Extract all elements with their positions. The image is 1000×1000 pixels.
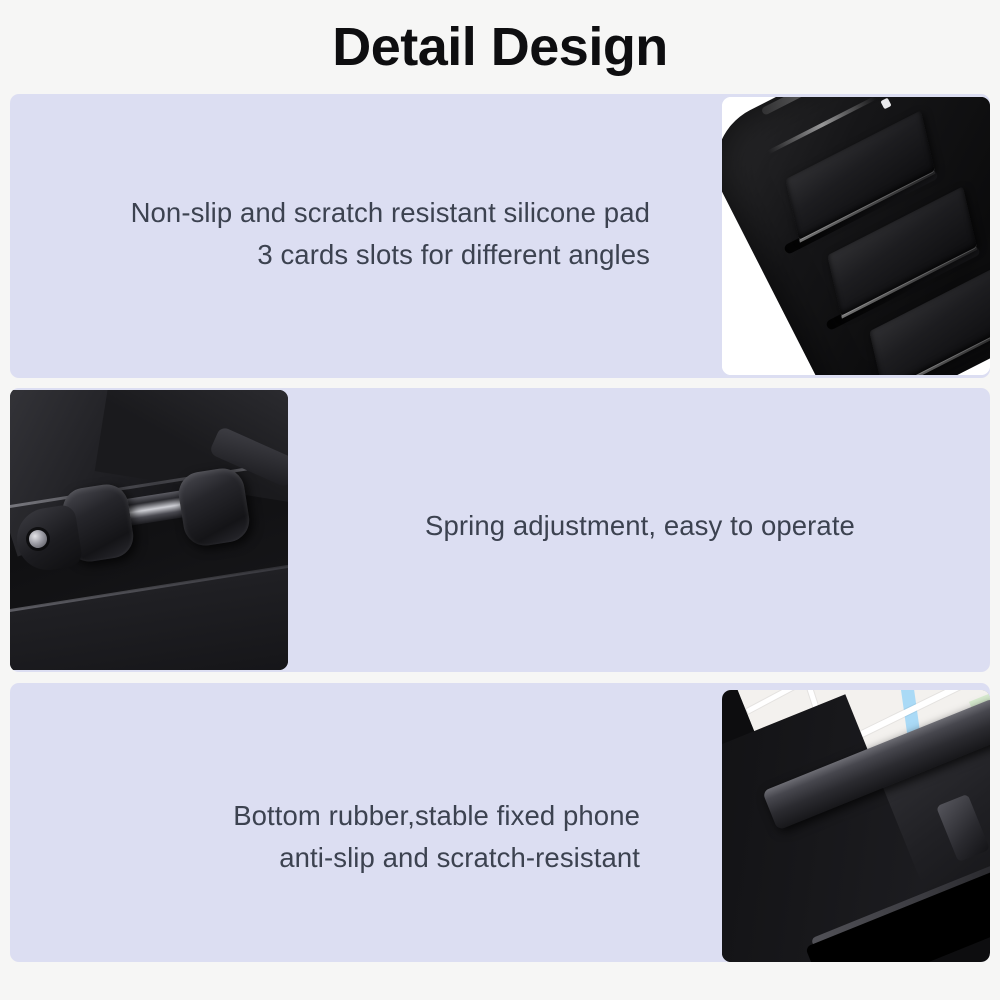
feature-text-3: Bottom rubber,stable fixed phone anti-sl… — [30, 795, 640, 879]
page-title: Detail Design — [0, 16, 1000, 78]
feature-text-1: Non-slip and scratch resistant silicone … — [50, 192, 650, 276]
feature-photo-2 — [10, 390, 288, 670]
feature-photo-1 — [722, 97, 990, 375]
feature-panel-1: Non-slip and scratch resistant silicone … — [10, 94, 990, 378]
feature-panel-3: Bottom rubber,stable fixed phone anti-sl… — [10, 683, 990, 962]
feature-text-1-line-1: Non-slip and scratch resistant silicone … — [50, 192, 650, 234]
feature-text-2: Spring adjustment, easy to operate — [310, 505, 970, 547]
feature-text-3-line-2: anti-slip and scratch-resistant — [30, 837, 640, 879]
feature-text-1-line-2: 3 cards slots for different angles — [50, 234, 650, 276]
hinge-barrel-right — [176, 465, 253, 548]
feature-text-2-line-1: Spring adjustment, easy to operate — [310, 505, 970, 547]
feature-text-3-line-1: Bottom rubber,stable fixed phone — [30, 795, 640, 837]
infographic-page: Detail Design Non-slip and scratch resis… — [0, 0, 1000, 1000]
feature-photo-3: Bizzabezzenek Gudemspoc Nasrelanw Apucat… — [722, 690, 990, 962]
feature-panel-2: Spring adjustment, easy to operate — [10, 388, 990, 672]
